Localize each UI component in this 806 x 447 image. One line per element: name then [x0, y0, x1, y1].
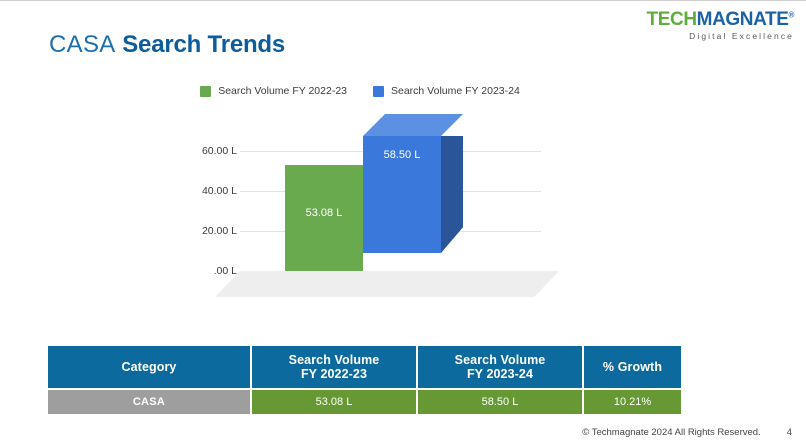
search-trends-chart: Search Volume FY 2022-23 Search Volume F… — [120, 79, 600, 319]
legend-label-fy2023-24: Search Volume FY 2023-24 — [391, 85, 520, 97]
y-axis-label-20: 20.00 L — [157, 225, 237, 237]
legend-item-fy2022-23: Search Volume FY 2022-23 — [200, 85, 347, 97]
legend-item-fy2023-24: Search Volume FY 2023-24 — [373, 85, 520, 97]
table-header-row: Category Search Volume FY 2022-23 Search… — [48, 346, 681, 389]
y-axis-label-0: .00 L — [157, 265, 237, 277]
table-cell-growth: 10.21% — [583, 389, 681, 414]
slide-canvas: TECHMAGNATE® Digital Excellence CASA Sea… — [0, 0, 806, 447]
page-title: CASA Search Trends — [49, 30, 285, 60]
logo-tech-text: TECH — [647, 9, 697, 30]
legend-swatch-green — [200, 86, 211, 97]
logo-tagline: Digital Excellence — [647, 32, 794, 41]
page-title-category: CASA — [49, 31, 116, 58]
page-title-main: Search Trends — [122, 31, 285, 58]
logo-magnate-text: MAGNATE — [697, 9, 789, 30]
table-cell-fy2022-23: 53.08 L — [251, 389, 417, 414]
table-cell-fy2023-24: 58.50 L — [417, 389, 583, 414]
table-header-fy2023-24: Search Volume FY 2023-24 — [417, 346, 583, 389]
table-header-category: Category — [48, 346, 251, 389]
table-header-fy2023-24-line2: FY 2023-24 — [467, 367, 533, 381]
table-header-fy2022-23-line1: Search Volume — [289, 353, 380, 367]
y-axis-label-60: 60.00 L — [157, 145, 237, 157]
table-cell-category: CASA — [48, 389, 251, 414]
bar-fy2023-24-top-face — [363, 114, 463, 136]
table-header-growth-line1: % Growth — [603, 360, 662, 374]
legend-swatch-blue — [373, 86, 384, 97]
bar-fy2023-24[interactable]: 58.50 L — [363, 111, 441, 297]
registered-trademark-icon: ® — [789, 11, 795, 20]
footer: © Techmagnate 2024 All Rights Reserved. … — [582, 427, 792, 438]
table-header-fy2022-23: Search Volume FY 2022-23 — [251, 346, 417, 389]
footer-page-number: 4 — [787, 427, 792, 438]
table-header-growth: % Growth — [583, 346, 681, 389]
chart-plot-area: 60.00 L 40.00 L 20.00 L .00 L 53.08 L 58… — [120, 111, 600, 316]
bar-fy2023-24-value-label: 58.50 L — [363, 149, 441, 161]
footer-copyright: © Techmagnate 2024 All Rights Reserved. — [582, 427, 760, 438]
bar-fy2022-23-value-label: 53.08 L — [285, 207, 363, 219]
table-header-fy2023-24-line1: Search Volume — [455, 353, 546, 367]
y-axis-label-40: 40.00 L — [157, 185, 237, 197]
techmagnate-logo: TECHMAGNATE® Digital Excellence — [647, 10, 794, 41]
bar-fy2022-23[interactable]: 53.08 L — [285, 111, 363, 297]
bar-fy2023-24-side-face — [441, 136, 463, 253]
table-header-category-line1: Category — [122, 360, 177, 374]
legend-label-fy2022-23: Search Volume FY 2022-23 — [218, 85, 347, 97]
table-row: CASA 53.08 L 58.50 L 10.21% — [48, 389, 681, 414]
table-header-fy2022-23-line2: FY 2022-23 — [301, 367, 367, 381]
chart-legend: Search Volume FY 2022-23 Search Volume F… — [120, 79, 600, 103]
logo-wordmark: TECHMAGNATE® — [647, 10, 794, 29]
search-volume-table: Category Search Volume FY 2022-23 Search… — [48, 346, 681, 414]
